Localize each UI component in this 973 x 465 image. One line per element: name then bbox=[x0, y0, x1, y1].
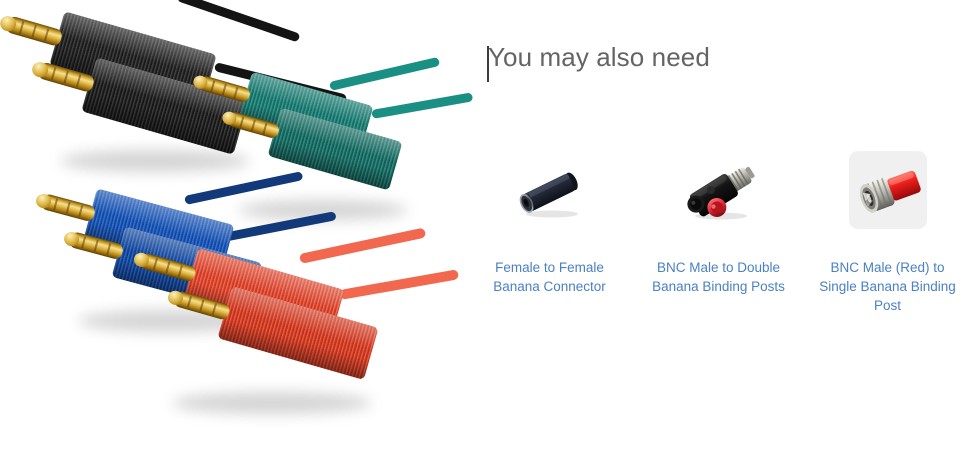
product-thumbnail-bnc-male-red-to-single-banana-binding-post[interactable] bbox=[838, 150, 938, 234]
panel-heading: You may also need bbox=[488, 42, 710, 73]
product-card-female-to-female-banana-connector[interactable]: Female to Female Banana Connector bbox=[465, 150, 634, 315]
cable-black-1 bbox=[177, 0, 301, 42]
cable-red-2 bbox=[339, 269, 459, 300]
product-label-bnc-male-red-to-single-banana-binding-post[interactable]: BNC Male (Red) to Single Banana Binding … bbox=[813, 258, 963, 315]
product-card-bnc-male-red-to-single-banana-binding-post[interactable]: BNC Male (Red) to Single Banana Binding … bbox=[803, 150, 972, 315]
product-card-bnc-male-to-double-banana-binding-posts[interactable]: BNC Male to Double Banana Binding Posts bbox=[634, 150, 803, 315]
product-page: You may also need bbox=[0, 0, 973, 465]
cable-red-1 bbox=[299, 227, 426, 263]
you-may-also-need-panel: You may also need bbox=[465, 0, 973, 465]
product-label-bnc-male-to-double-banana-binding-posts[interactable]: BNC Male to Double Banana Binding Posts bbox=[644, 258, 794, 296]
gold-pin-blue-1 bbox=[40, 193, 96, 222]
product-label-female-to-female-banana-connector[interactable]: Female to Female Banana Connector bbox=[475, 258, 625, 296]
cable-teal-2 bbox=[371, 92, 473, 119]
barrel-connector-icon bbox=[500, 150, 600, 234]
gold-pin-black-1 bbox=[5, 15, 64, 47]
product-thumbnail-female-to-female-banana-connector[interactable] bbox=[500, 150, 600, 234]
product-thumbnail-bnc-male-to-double-banana-binding-posts[interactable] bbox=[669, 150, 769, 234]
bnc-double-binding-post-icon bbox=[669, 150, 769, 234]
bnc-red-single-binding-post-icon bbox=[838, 150, 938, 234]
shadow-red bbox=[172, 392, 372, 414]
related-products-list: Female to Female Banana Connector bbox=[465, 150, 973, 315]
cable-teal-1 bbox=[329, 57, 440, 91]
shadow-black bbox=[60, 150, 250, 172]
hero-product-image[interactable] bbox=[0, 0, 465, 465]
cable-blue-1 bbox=[184, 171, 303, 205]
